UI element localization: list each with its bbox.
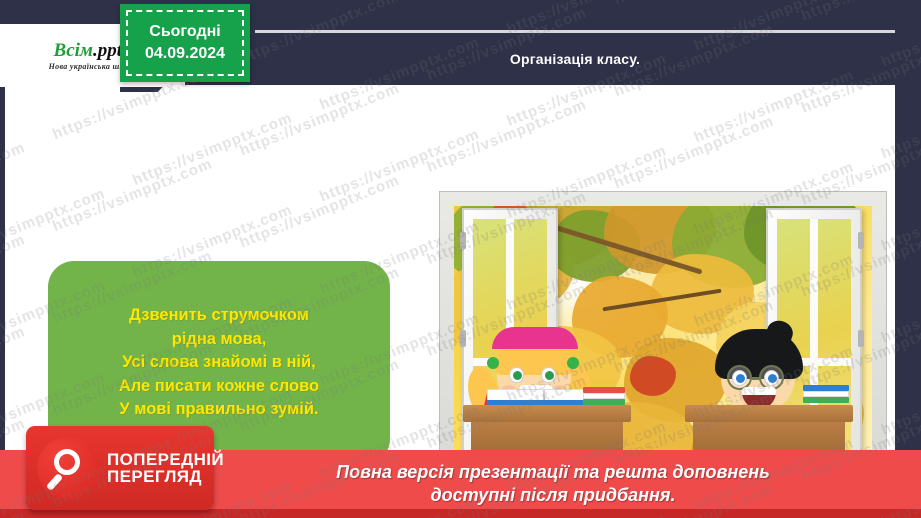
slide-frame: Дзвенить струмочком рідна мова, Усі слов… [0, 0, 921, 518]
poem-line-5: У мові правильно зумій. [119, 398, 318, 421]
poem-line-1: Дзвенить струмочком [129, 304, 309, 327]
poem-line-4: Але писати кожне слово [119, 375, 319, 398]
preview-label-line-2: ПЕРЕГЛЯД [107, 468, 224, 485]
banner-line-1: Повна версія презентації та решта доповн… [336, 461, 770, 484]
badge-today-label: Сьогодні [149, 21, 220, 43]
slide-header-bar: Організація класу. [255, 30, 895, 85]
badge-date-value: 04.09.2024 [145, 43, 225, 65]
today-date-badge: Сьогодні 04.09.2024 [120, 4, 250, 82]
poem-line-3: Усі слова знайомі в ній, [122, 351, 316, 374]
magnifier-icon [37, 437, 99, 499]
banner-bottom-strip [0, 509, 921, 518]
banner-text: Повна версія презентації та решта доповн… [336, 461, 770, 508]
preview-badge[interactable]: ПОПЕРЕДНІЙ ПЕРЕГЛЯД [26, 426, 214, 510]
book-stack-left [583, 387, 625, 405]
preview-badge-label: ПОПЕРЕДНІЙ ПЕРЕГЛЯД [107, 451, 224, 486]
banner-line-2: доступні після придбання. [336, 484, 770, 507]
book-stack-right [803, 385, 849, 403]
logo-word-first: Всім [54, 40, 93, 61]
preview-label-line-1: ПОПЕРЕДНІЙ [107, 451, 224, 468]
page-title: Організація класу. [510, 51, 640, 67]
poem-line-2: рідна мова, [172, 328, 267, 351]
